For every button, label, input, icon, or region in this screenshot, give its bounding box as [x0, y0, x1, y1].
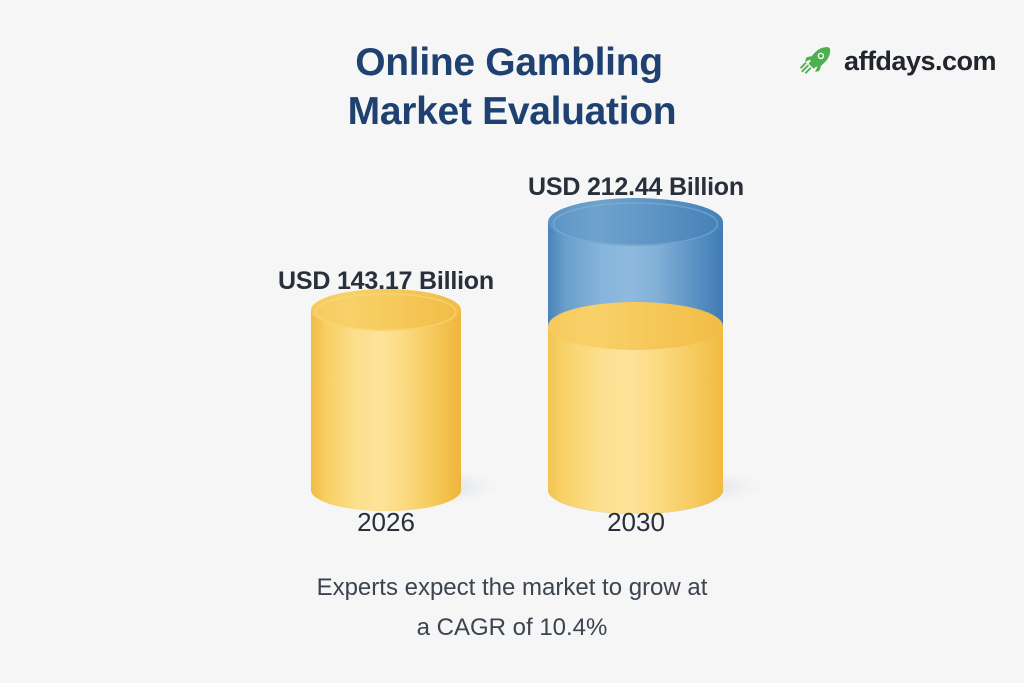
data-label-2026: USD 143.17 Billion	[236, 267, 536, 296]
caption-line-2: a CAGR of 10.4%	[0, 608, 1024, 648]
chart-caption: Experts expect the market to grow at a C…	[0, 568, 1024, 648]
infographic-canvas: Online Gambling Market Evaluation affday…	[0, 0, 1024, 683]
bar-2026[interactable]	[311, 289, 461, 511]
category-label-2030: 2030	[486, 507, 786, 538]
bar-2030[interactable]	[540, 198, 732, 516]
data-label-2030: USD 212.44 Billion	[486, 173, 786, 202]
bar-2030-lower-segment	[540, 302, 732, 516]
caption-line-1: Experts expect the market to grow at	[0, 568, 1024, 608]
